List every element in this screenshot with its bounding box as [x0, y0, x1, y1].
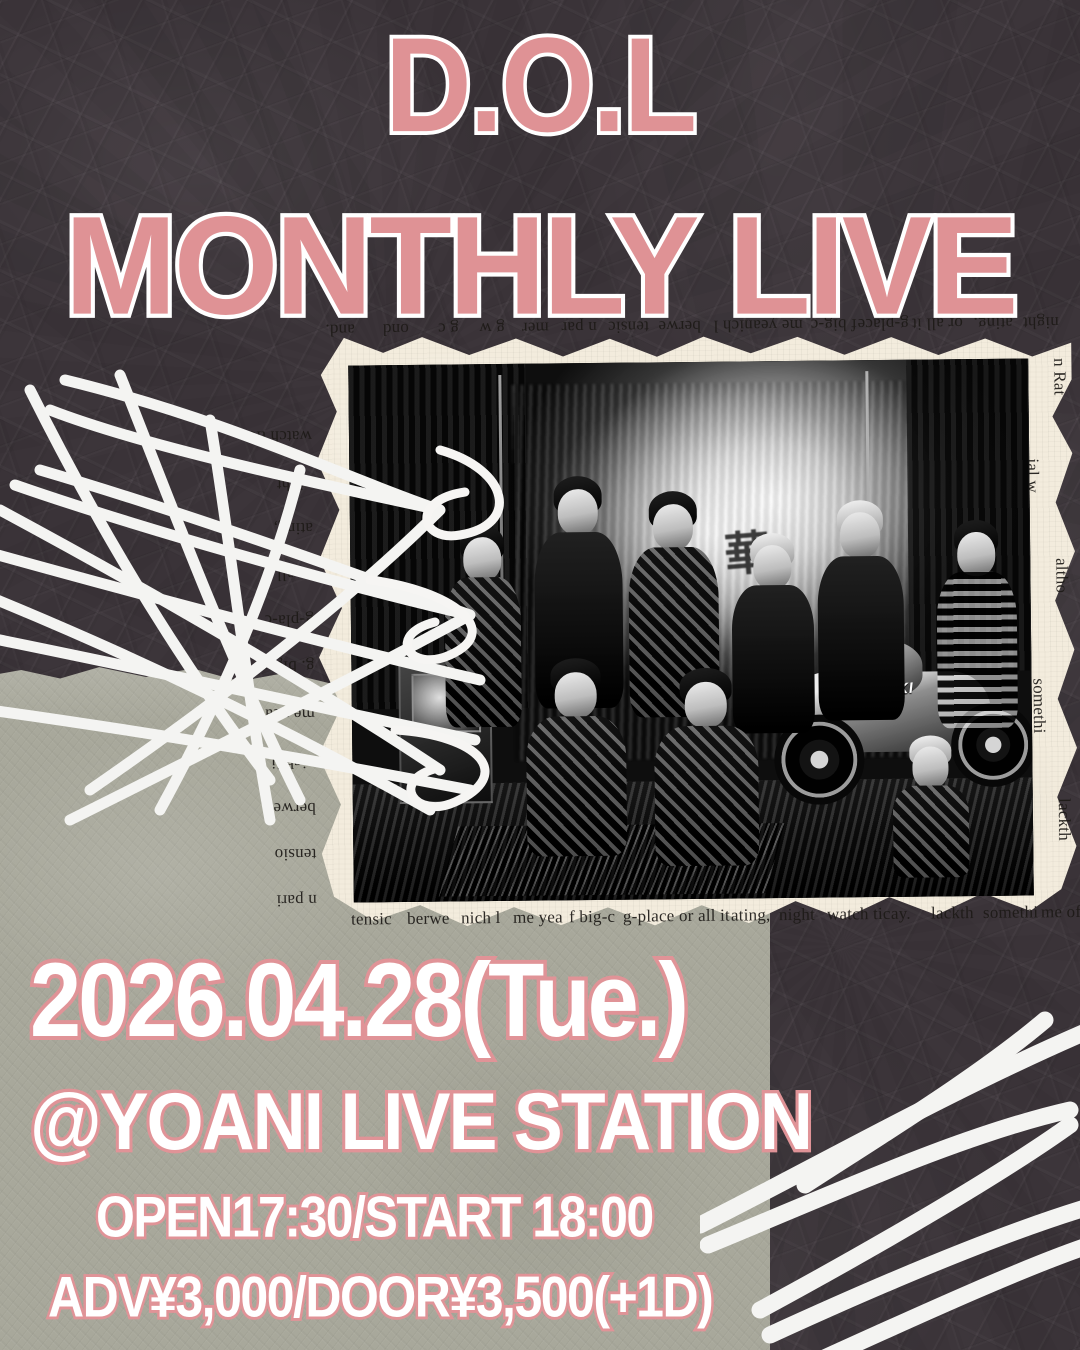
- newsprint-fragment: nich l: [461, 908, 501, 928]
- band-group-photo: 華 SUZUKI: [348, 358, 1034, 902]
- newsprint-fragment: g. big-c: [261, 656, 315, 677]
- newsprint-fragment: night: [779, 905, 815, 925]
- newsprint-fragment: f big-c: [569, 907, 615, 927]
- newsprint-fragment: me of yea: [1041, 902, 1080, 923]
- band-member: [438, 525, 529, 773]
- event-venue: @YOANI LIVE STATION: [30, 1082, 811, 1163]
- newsprint-fragment: somethi: [983, 902, 1038, 923]
- newsprint-fragment: berwe: [273, 798, 316, 818]
- page-subtitle: MONTHLY LIVE: [0, 196, 1080, 336]
- newsprint-fragment: me yea: [265, 704, 315, 725]
- photo-collage: and. ond g c g w mer n par tensic berwe …: [297, 318, 1080, 940]
- newsprint-fragment: n Rat: [1049, 358, 1069, 396]
- newsprint-fragment: ating,: [273, 518, 313, 538]
- event-date: 2026.04.28(Tue.): [30, 948, 686, 1053]
- newsprint-fragment: ating,: [731, 905, 771, 925]
- newsprint-fragment: berwe: [407, 909, 450, 929]
- newsprint-fragment: tensio: [274, 844, 316, 864]
- newsprint-fragment: or all it: [679, 906, 730, 927]
- band-member: [521, 658, 632, 885]
- event-prices: ADV¥3,000/DOOR¥3,500(+1D): [48, 1268, 712, 1326]
- newsprint-fragment: g-place: [623, 906, 675, 927]
- newsprint-fragment: lackth: [1054, 798, 1074, 841]
- band-member: [883, 735, 980, 897]
- newsprint-fragment: altho: [1051, 558, 1071, 593]
- page-title: D.O.L: [0, 18, 1080, 152]
- event-times: OPEN17:30/START 18:00: [96, 1188, 653, 1246]
- newsprint-fragment: ay.: [891, 904, 911, 924]
- newsprint-fragment: watch tic: [827, 904, 891, 925]
- newsprint-fragment: me yea: [513, 907, 563, 928]
- band-member: [651, 667, 762, 894]
- newsprint-fragment: g-pla-c: [264, 610, 314, 631]
- newsprint-fragment: or all it: [262, 564, 313, 585]
- event-poster: and. ond g c g w mer n par tensic berwe …: [0, 0, 1080, 1350]
- newsprint-fragment: watch tic: [248, 426, 312, 447]
- newsprint-fragment: lackth: [931, 903, 974, 923]
- newsprint-fragment: night: [276, 474, 312, 494]
- newsprint-fragment: nich li: [271, 752, 316, 772]
- newsprint-fragment: n pari: [276, 890, 317, 910]
- newsprint-fragment: tensic: [351, 909, 392, 929]
